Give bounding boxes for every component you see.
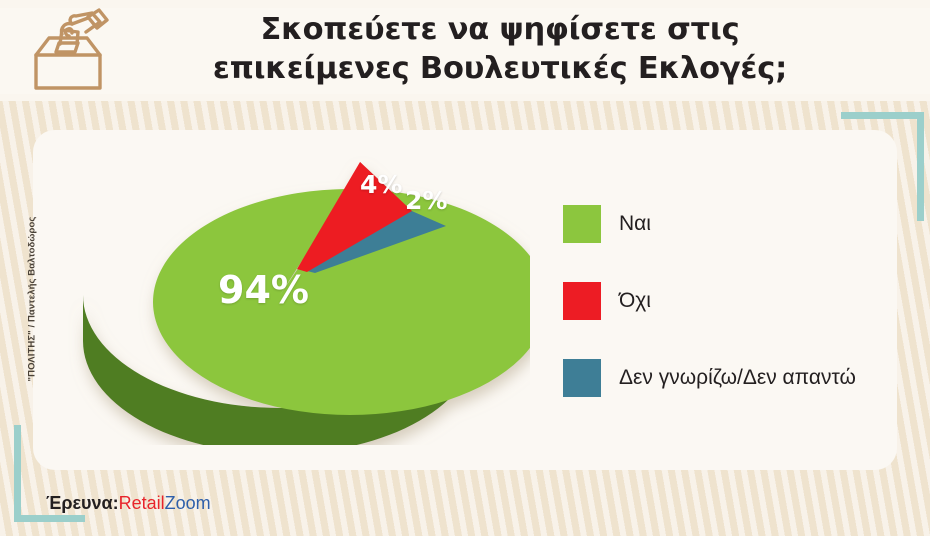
legend-label-dk: Δεν γνωρίζω/Δεν απαντώ [619,366,856,390]
pie-label-oxi: 4% [360,170,402,199]
legend-swatch-nai [563,205,601,243]
legend-label-nai: Ναι [619,212,651,236]
ballot-box-icon [22,8,114,96]
pie-label-nai: 94% [218,268,309,312]
legend-item-nai: Ναι [563,205,903,243]
page-title: Σκοπεύετε να ψηφίσετε στις επικείμενες Β… [150,10,850,88]
title-line-1: Σκοπεύετε να ψηφίσετε στις [261,12,740,47]
pie-label-dk: 2% [405,186,447,215]
legend-label-oxi: Όχι [619,289,651,313]
credit-vertical-text: "ΠΟΛΙΤΗΣ" / Παντελής Βαλτοδώρος [27,222,38,382]
brand-zoom: Zoom [165,493,211,513]
brand-retail: Retail [119,493,165,513]
legend-item-dk: Δεν γνωρίζω/Δεν απαντώ [563,359,903,397]
chart-legend: Ναι Όχι Δεν γνωρίζω/Δεν απαντώ [563,205,903,397]
pie-chart: 94% 4% 2% [60,145,530,445]
legend-swatch-oxi [563,282,601,320]
source-label: Έρευνα: [46,493,119,513]
title-line-2: επικείμενες Βουλευτικές Εκλογές; [150,49,850,88]
legend-swatch-dk [563,359,601,397]
slide-root: Σκοπεύετε να ψηφίσετε στις επικείμενες Β… [0,0,930,536]
legend-item-oxi: Όχι [563,282,903,320]
source-credit: Έρευνα:RetailZoom [46,493,211,514]
